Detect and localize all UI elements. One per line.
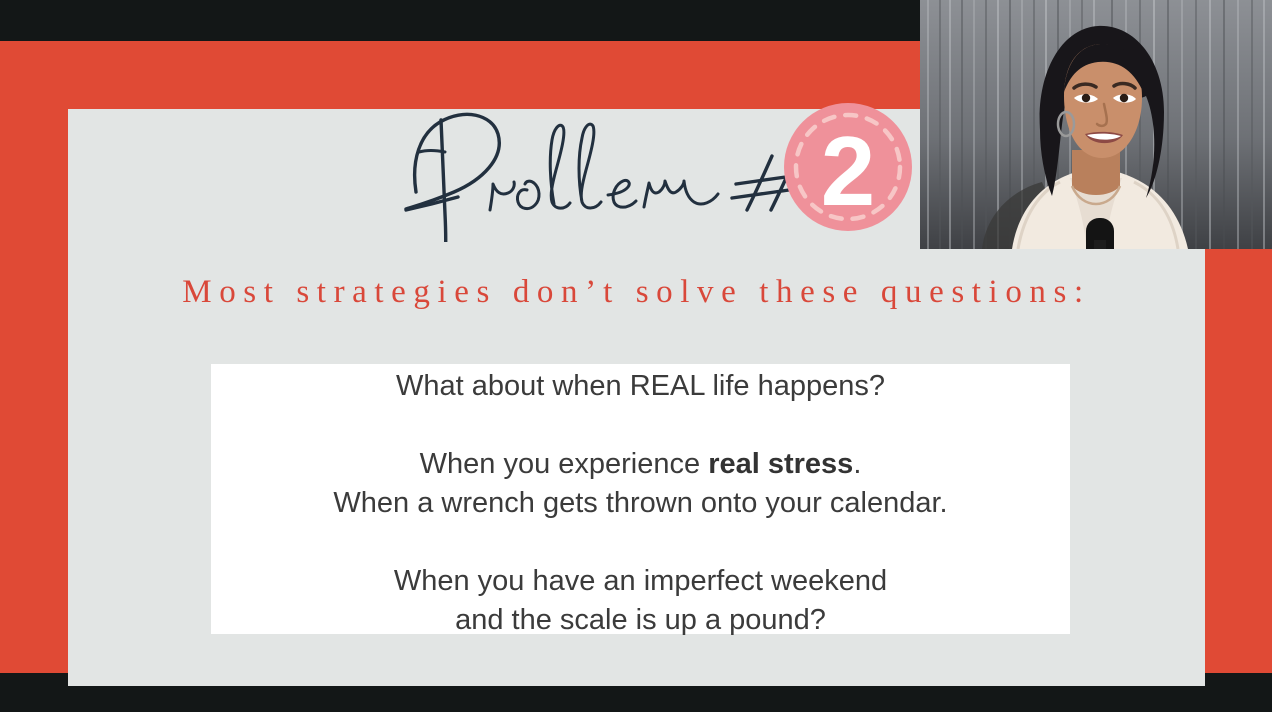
question-line-2-prefix: When you experience xyxy=(420,448,709,480)
question-line-1: What about when REAL life happens? xyxy=(211,367,1070,406)
slide-presentation-screen: 2 Most strategies don’t solve these ques… xyxy=(0,0,1272,712)
question-line-2-emphasis: real stress xyxy=(708,448,853,480)
slide-subtitle: Most strategies don’t solve these questi… xyxy=(68,274,1205,311)
question-line-3: When a wrench gets thrown onto your cale… xyxy=(211,484,1070,523)
webcam-scene xyxy=(920,0,1272,249)
question-line-2: When you experience real stress. xyxy=(211,445,1070,484)
question-line-5: and the scale is up a pound? xyxy=(211,601,1070,640)
presenter-video-overlay[interactable] xyxy=(920,0,1272,249)
question-spacer-1 xyxy=(211,406,1070,445)
question-line-4: When you have an imperfect weekend xyxy=(211,562,1070,601)
question-line-2-suffix: . xyxy=(853,448,861,480)
question-spacer-2 xyxy=(211,523,1070,562)
questions-content-box: What about when REAL life happens? When … xyxy=(211,364,1070,634)
microphone-stem xyxy=(1094,240,1106,249)
